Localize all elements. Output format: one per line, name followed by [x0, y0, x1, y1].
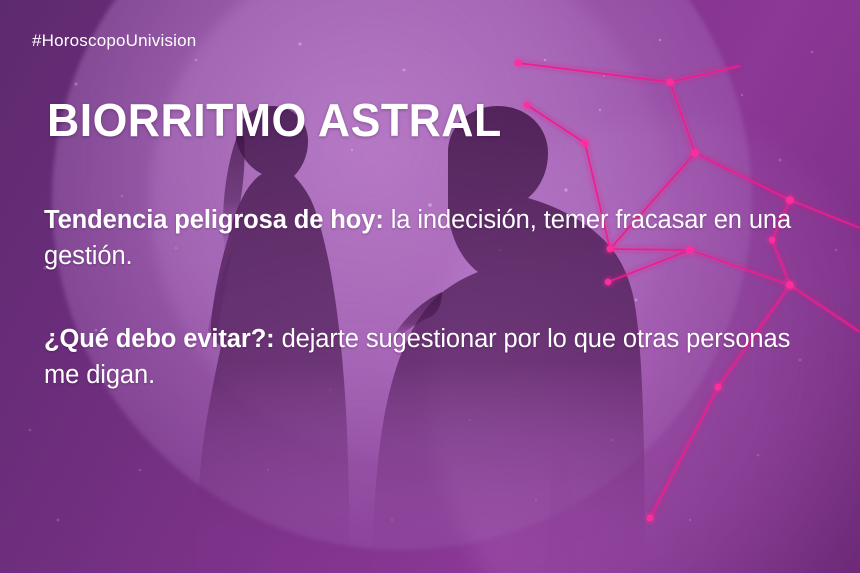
text-content: #HoroscopoUnivision BIORRITMO ASTRAL Ten… — [0, 0, 860, 573]
paragraph-tendencia: Tendencia peligrosa de hoy: la indecisió… — [44, 203, 814, 274]
hashtag-label: #HoroscopoUnivision — [32, 31, 196, 51]
horoscope-card: #HoroscopoUnivision BIORRITMO ASTRAL Ten… — [0, 0, 860, 573]
paragraph-evitar: ¿Qué debo evitar?: dejarte sugestionar p… — [44, 322, 814, 393]
paragraph-evitar-label: ¿Qué debo evitar?: — [44, 325, 275, 353]
paragraph-tendencia-label: Tendencia peligrosa de hoy: — [44, 206, 384, 234]
page-title: BIORRITMO ASTRAL — [47, 97, 502, 143]
